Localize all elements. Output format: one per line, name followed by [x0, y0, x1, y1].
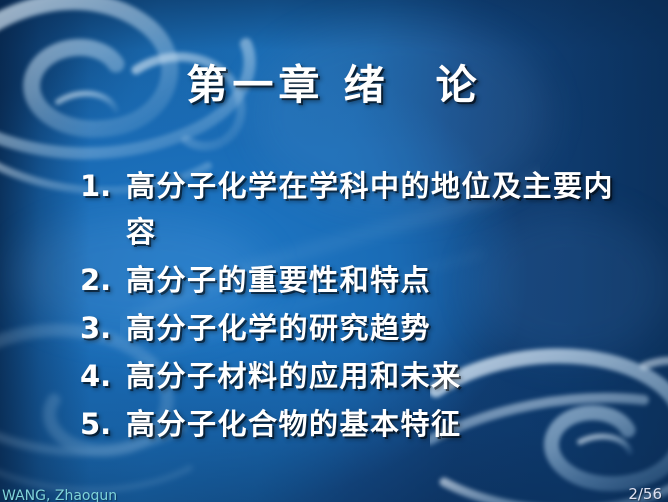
- list-item: 5. 高分子化合物的基本特征: [80, 401, 628, 447]
- list-item-text: 高分子化合物的基本特征: [126, 401, 628, 447]
- list-item: 3. 高分子化学的研究趋势: [80, 305, 628, 351]
- footer-author: WANG, Zhaoqun: [2, 487, 117, 502]
- presentation-slide: 第一章 绪 论 1. 高分子化学在学科中的地位及主要内容 2. 高分子的重要性和…: [0, 0, 668, 502]
- list-item-text: 高分子的重要性和特点: [126, 257, 628, 303]
- list-item-number: 2.: [80, 257, 126, 303]
- list-item-text: 高分子化学的研究趋势: [126, 305, 628, 351]
- list-item: 2. 高分子的重要性和特点: [80, 257, 628, 303]
- list-item: 4. 高分子材料的应用和未来: [80, 353, 628, 399]
- footer-page-number: 2/56: [628, 485, 662, 502]
- list-item-text: 高分子化学在学科中的地位及主要内容: [126, 163, 628, 255]
- list-item-number: 4.: [80, 353, 126, 399]
- list-item-number: 5.: [80, 401, 126, 447]
- slide-content-list: 1. 高分子化学在学科中的地位及主要内容 2. 高分子的重要性和特点 3. 高分…: [80, 163, 628, 449]
- list-item: 1. 高分子化学在学科中的地位及主要内容: [80, 163, 628, 255]
- slide-title: 第一章 绪 论: [0, 62, 668, 110]
- list-item-text: 高分子材料的应用和未来: [126, 353, 628, 399]
- list-item-number: 1.: [80, 163, 126, 209]
- list-item-number: 3.: [80, 305, 126, 351]
